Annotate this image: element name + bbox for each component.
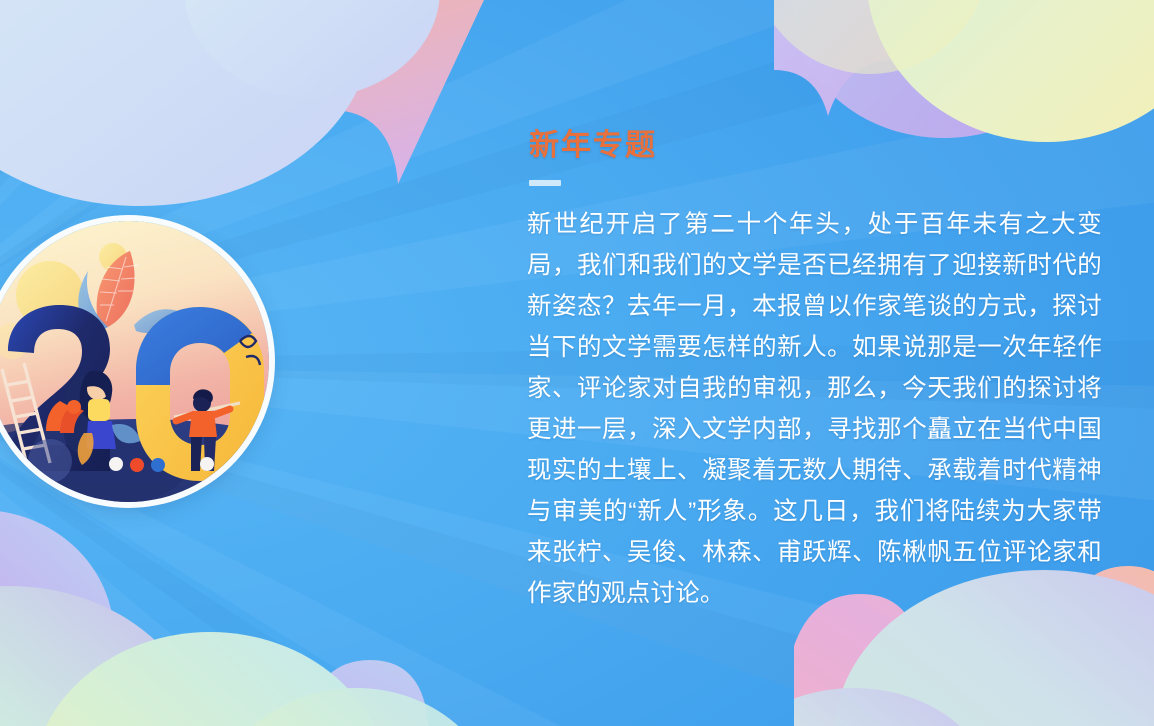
new-year-illustration: [0, 221, 269, 502]
banner-stage: 新年专题 新世纪开启了第二十个年头，处于百年未有之大变局，我们和我们的文学是否已…: [0, 0, 1154, 726]
illustration-20-icon: [0, 221, 269, 502]
article-panel: 新年专题 新世纪开启了第二十个年头，处于百年未有之大变局，我们和我们的文学是否已…: [527, 128, 1102, 614]
page-title: 新年专题: [529, 128, 1102, 164]
article-body-text: 新世纪开启了第二十个年头，处于百年未有之大变局，我们和我们的文学是否已经拥有了迎…: [527, 204, 1102, 614]
title-underline-rule: [529, 180, 561, 186]
